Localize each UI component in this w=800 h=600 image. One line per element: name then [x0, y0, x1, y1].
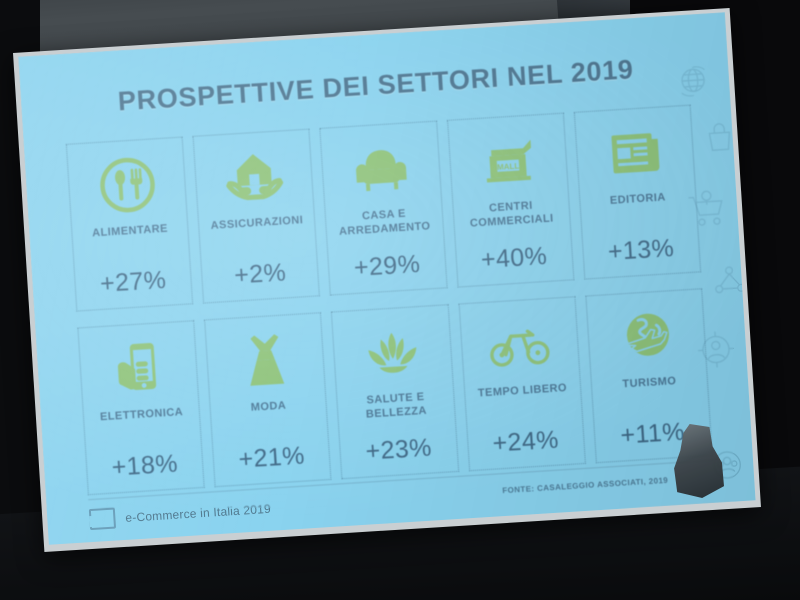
mall-icon: MALL — [478, 128, 538, 193]
sector-label: TURISMO — [622, 375, 678, 406]
presentation-slide: PROSPETTIVE DEI SETTORI NEL 2019 — [18, 12, 755, 544]
sector-label: ASSICURAZIONI — [210, 214, 304, 248]
sector-card-centri-commerciali[interactable]: MALL CENTRI COMMERCIALI +40% — [447, 113, 575, 288]
sector-value: +27% — [99, 266, 167, 299]
sector-card-tempo-libero[interactable]: TEMPO LIBERO +24% — [458, 296, 586, 471]
sector-value: +24% — [492, 426, 560, 459]
sector-card-salute-bellezza[interactable]: SALUTE E BELLEZZA +23% — [331, 304, 459, 479]
photo-of-projected-slide: PROSPETTIVE DEI SETTORI NEL 2019 — [0, 0, 800, 600]
sector-label: ELETTRONICA — [100, 406, 185, 439]
globe-plane-icon — [618, 304, 676, 369]
sector-label: CENTRI COMMERCIALI — [469, 198, 554, 231]
sector-card-elettronica[interactable]: ELETTRONICA +18% — [77, 320, 205, 495]
bicycle-icon — [487, 312, 553, 378]
sector-value: +2% — [233, 258, 287, 290]
sector-label: SALUTE E BELLEZZA — [365, 391, 428, 423]
sector-card-alimentare[interactable]: ALIMENTARE +27% — [66, 137, 194, 312]
svg-text:MALL: MALL — [497, 161, 520, 171]
sector-label: MODA — [250, 400, 287, 430]
dress-icon — [241, 328, 291, 393]
sector-value: +23% — [365, 434, 433, 467]
cutlery-icon — [97, 152, 157, 217]
sector-value: +18% — [111, 450, 179, 483]
lotus-icon — [361, 320, 425, 386]
armchair-icon — [350, 136, 412, 202]
sector-value: +11% — [620, 418, 686, 451]
sector-grid: ALIMENTARE +27% — [66, 105, 713, 496]
sector-value: +21% — [238, 442, 306, 475]
sector-row: ELETTRONICA +18% — [77, 288, 712, 495]
sector-card-casa-arredamento[interactable]: CASA E ARREDAMENTO +29% — [320, 121, 448, 296]
casaleggio-logo-icon — [89, 508, 116, 531]
sector-value: +29% — [353, 250, 421, 283]
sector-label: EDITORIA — [610, 191, 668, 222]
footer-label: e-Commerce in Italia 2019 — [125, 501, 271, 524]
sector-value: +13% — [607, 234, 675, 267]
sector-card-moda[interactable]: MODA +21% — [204, 312, 332, 487]
sector-row: ALIMENTARE +27% — [66, 105, 701, 312]
sector-card-assicurazioni[interactable]: ASSICURAZIONI +2% — [193, 129, 321, 304]
sector-label: ALIMENTARE — [92, 223, 169, 256]
sector-label: CASA E ARREDAMENTO — [338, 206, 431, 240]
sector-value: +40% — [480, 242, 548, 275]
source-credit: FONTE: CASALEGGIO ASSOCIATI, 2019 — [502, 476, 668, 495]
hand-phone-icon — [110, 336, 168, 401]
projection-screen-frame: PROSPETTIVE DEI SETTORI NEL 2019 — [13, 8, 761, 552]
house-hands-icon — [223, 144, 285, 210]
sector-label: TEMPO LIBERO — [478, 382, 569, 416]
newspaper-icon — [605, 120, 665, 185]
sector-card-editoria[interactable]: EDITORIA +13% — [574, 105, 702, 280]
